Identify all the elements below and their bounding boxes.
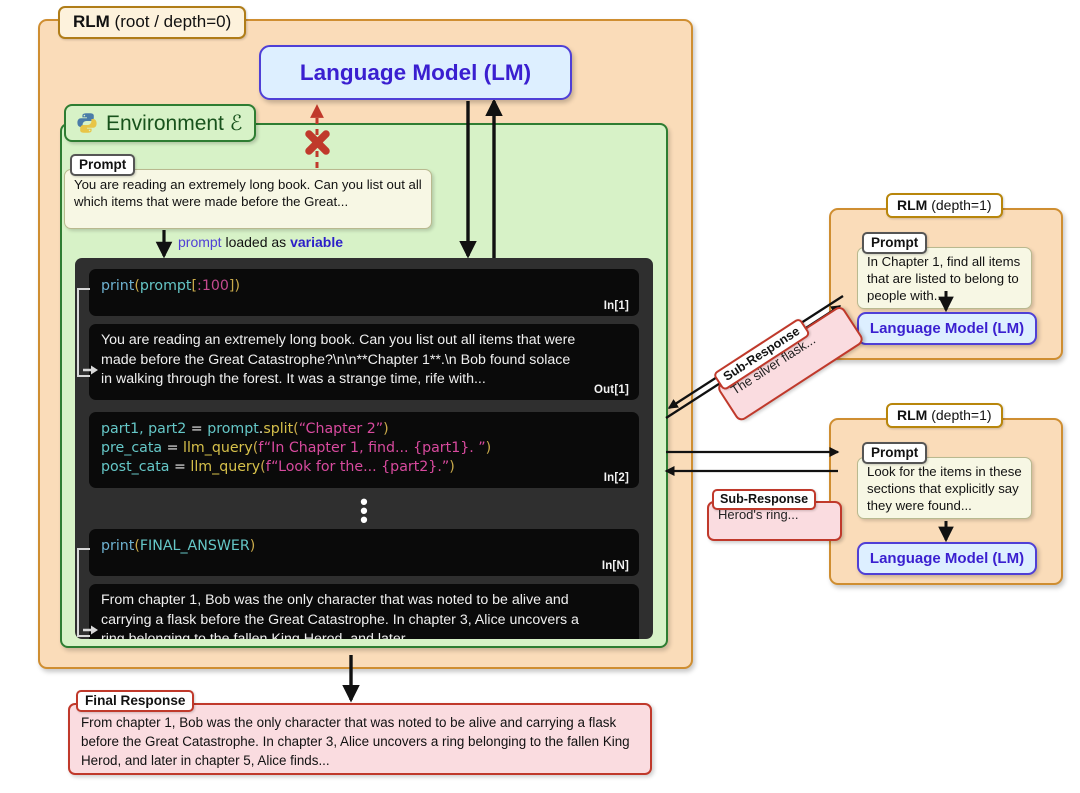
rlm-root-label: RLM (root / depth=0) [58,6,246,39]
cells-ellipsis: ••• [75,497,653,524]
code-token: = [167,440,183,456]
sub-response-label-2: Sub-Response [712,489,816,510]
language-model-box-root[interactable]: Language Model (LM) [259,45,572,100]
code-token: ) [449,459,455,475]
prompt-text-depth1-2: Look for the items in these sections tha… [867,464,1022,513]
code-token: llm_query [190,459,260,475]
prompt-text-root: You are reading an extremely long book. … [74,177,422,209]
rlm-depth1-label-bold-2: RLM [897,407,927,423]
language-model-box-depth1-1[interactable]: Language Model (LM) [857,312,1037,345]
code-block-in-2: part1, part2 = prompt.split(“Chapter 2”)… [89,412,639,485]
output-text-1: You are reading an extremely long book. … [89,324,639,396]
sub-response-card-2: Herod's ring... Sub-Response [707,489,827,533]
python-icon [76,112,98,134]
rlm-depth1-label-rest-1: (depth=1) [927,197,991,213]
code-token: f“Look for the... {part2}.” [266,459,449,475]
ellipsis-dots: ••• [360,497,368,524]
rlm-depth1-label-rest-2: (depth=1) [927,407,991,423]
code-token: ) [250,538,256,554]
prompt-loaded-annotation: prompt loaded as variable [178,234,343,250]
notebook-cell-out-1: You are reading an extremely long book. … [89,324,639,400]
environment-label: Environment ℰ [106,111,242,136]
language-model-label: Language Model (LM) [300,60,531,86]
code-line-in-n: print(FINAL_ANSWER) [89,529,639,564]
cell-tag-in-n: In[N] [602,560,629,572]
environment-label-tab: Environment ℰ [64,104,256,142]
code-token: part1, part2 [101,421,191,437]
prompt-label-root: Prompt [70,154,135,176]
code-token: pre_cata [101,440,167,456]
code-token: ) [383,421,389,437]
notebook-cell-out-n: From chapter 1, Bob was the only charact… [89,584,639,639]
prompt-card-root: You are reading an extremely long book. … [64,169,432,229]
notebook-cell-in-2[interactable]: part1, part2 = prompt.split(“Chapter 2”)… [89,412,639,488]
code-token: prompt [207,421,259,437]
code-token: FINAL_ANSWER [140,538,250,554]
rlm-root-label-bold: RLM [73,12,110,31]
code-token: = [174,459,190,475]
language-model-label-depth1-1: Language Model (LM) [870,320,1024,337]
rlm-depth1-label-1: RLM (depth=1) [886,193,1003,218]
code-token: prompt [140,278,192,294]
final-response-text: From chapter 1, Bob was the only charact… [81,715,630,768]
in-out-bracket-arrow-1 [83,364,101,382]
prompt-label-depth1-1: Prompt [862,232,927,254]
cell-tag-out-1: Out[1] [594,384,629,396]
code-token: ) [234,278,240,294]
prompt-loaded-mid: loaded as [222,234,291,250]
code-token: print [101,538,134,554]
rlm-depth1-label-2: RLM (depth=1) [886,403,1003,428]
cell-tag-in-1: In[1] [604,300,629,312]
code-token: ) [486,440,492,456]
final-response-card: From chapter 1, Bob was the only charact… [68,703,652,775]
cell-tag-in-2: In[2] [604,472,629,484]
code-line-in-1: print(prompt[:100]) [89,269,639,304]
code-token: post_cata [101,459,174,475]
notebook-cell-in-1[interactable]: print(prompt[:100]) In[1] [89,269,639,316]
rlm-depth1-label-bold-1: RLM [897,197,927,213]
code-token: split [263,421,293,437]
prompt-loaded-variable: variable [290,234,343,250]
prompt-label-depth1-2: Prompt [862,442,927,464]
prompt-card-depth1-2: Look for the items in these sections tha… [857,457,1032,519]
notebook-panel: print(prompt[:100]) In[1] You are readin… [75,258,653,639]
code-token: :100 [197,278,229,294]
prompt-var-name: prompt [178,234,222,250]
language-model-label-depth1-2: Language Model (LM) [870,550,1024,567]
language-model-box-depth1-2[interactable]: Language Model (LM) [857,542,1037,575]
final-response-label: Final Response [76,690,194,712]
code-token: llm_query [183,440,253,456]
notebook-cell-in-n[interactable]: print(FINAL_ANSWER) In[N] [89,529,639,576]
prompt-text-depth1-1: In Chapter 1, find all items that are li… [867,254,1020,303]
code-token: “Chapter 2” [299,421,383,437]
sub-response-card-1: The silver flask... Sub-Response [709,306,840,413]
code-token: = [191,421,207,437]
prompt-card-depth1-1: In Chapter 1, find all items that are li… [857,247,1032,309]
rlm-root-label-rest: (root / depth=0) [110,12,231,31]
in-out-bracket-arrow-n [83,624,101,639]
output-text-n: From chapter 1, Bob was the only charact… [89,584,639,639]
code-token: f“In Chapter 1, find... {part1}. ” [258,440,485,456]
code-token: print [101,278,134,294]
